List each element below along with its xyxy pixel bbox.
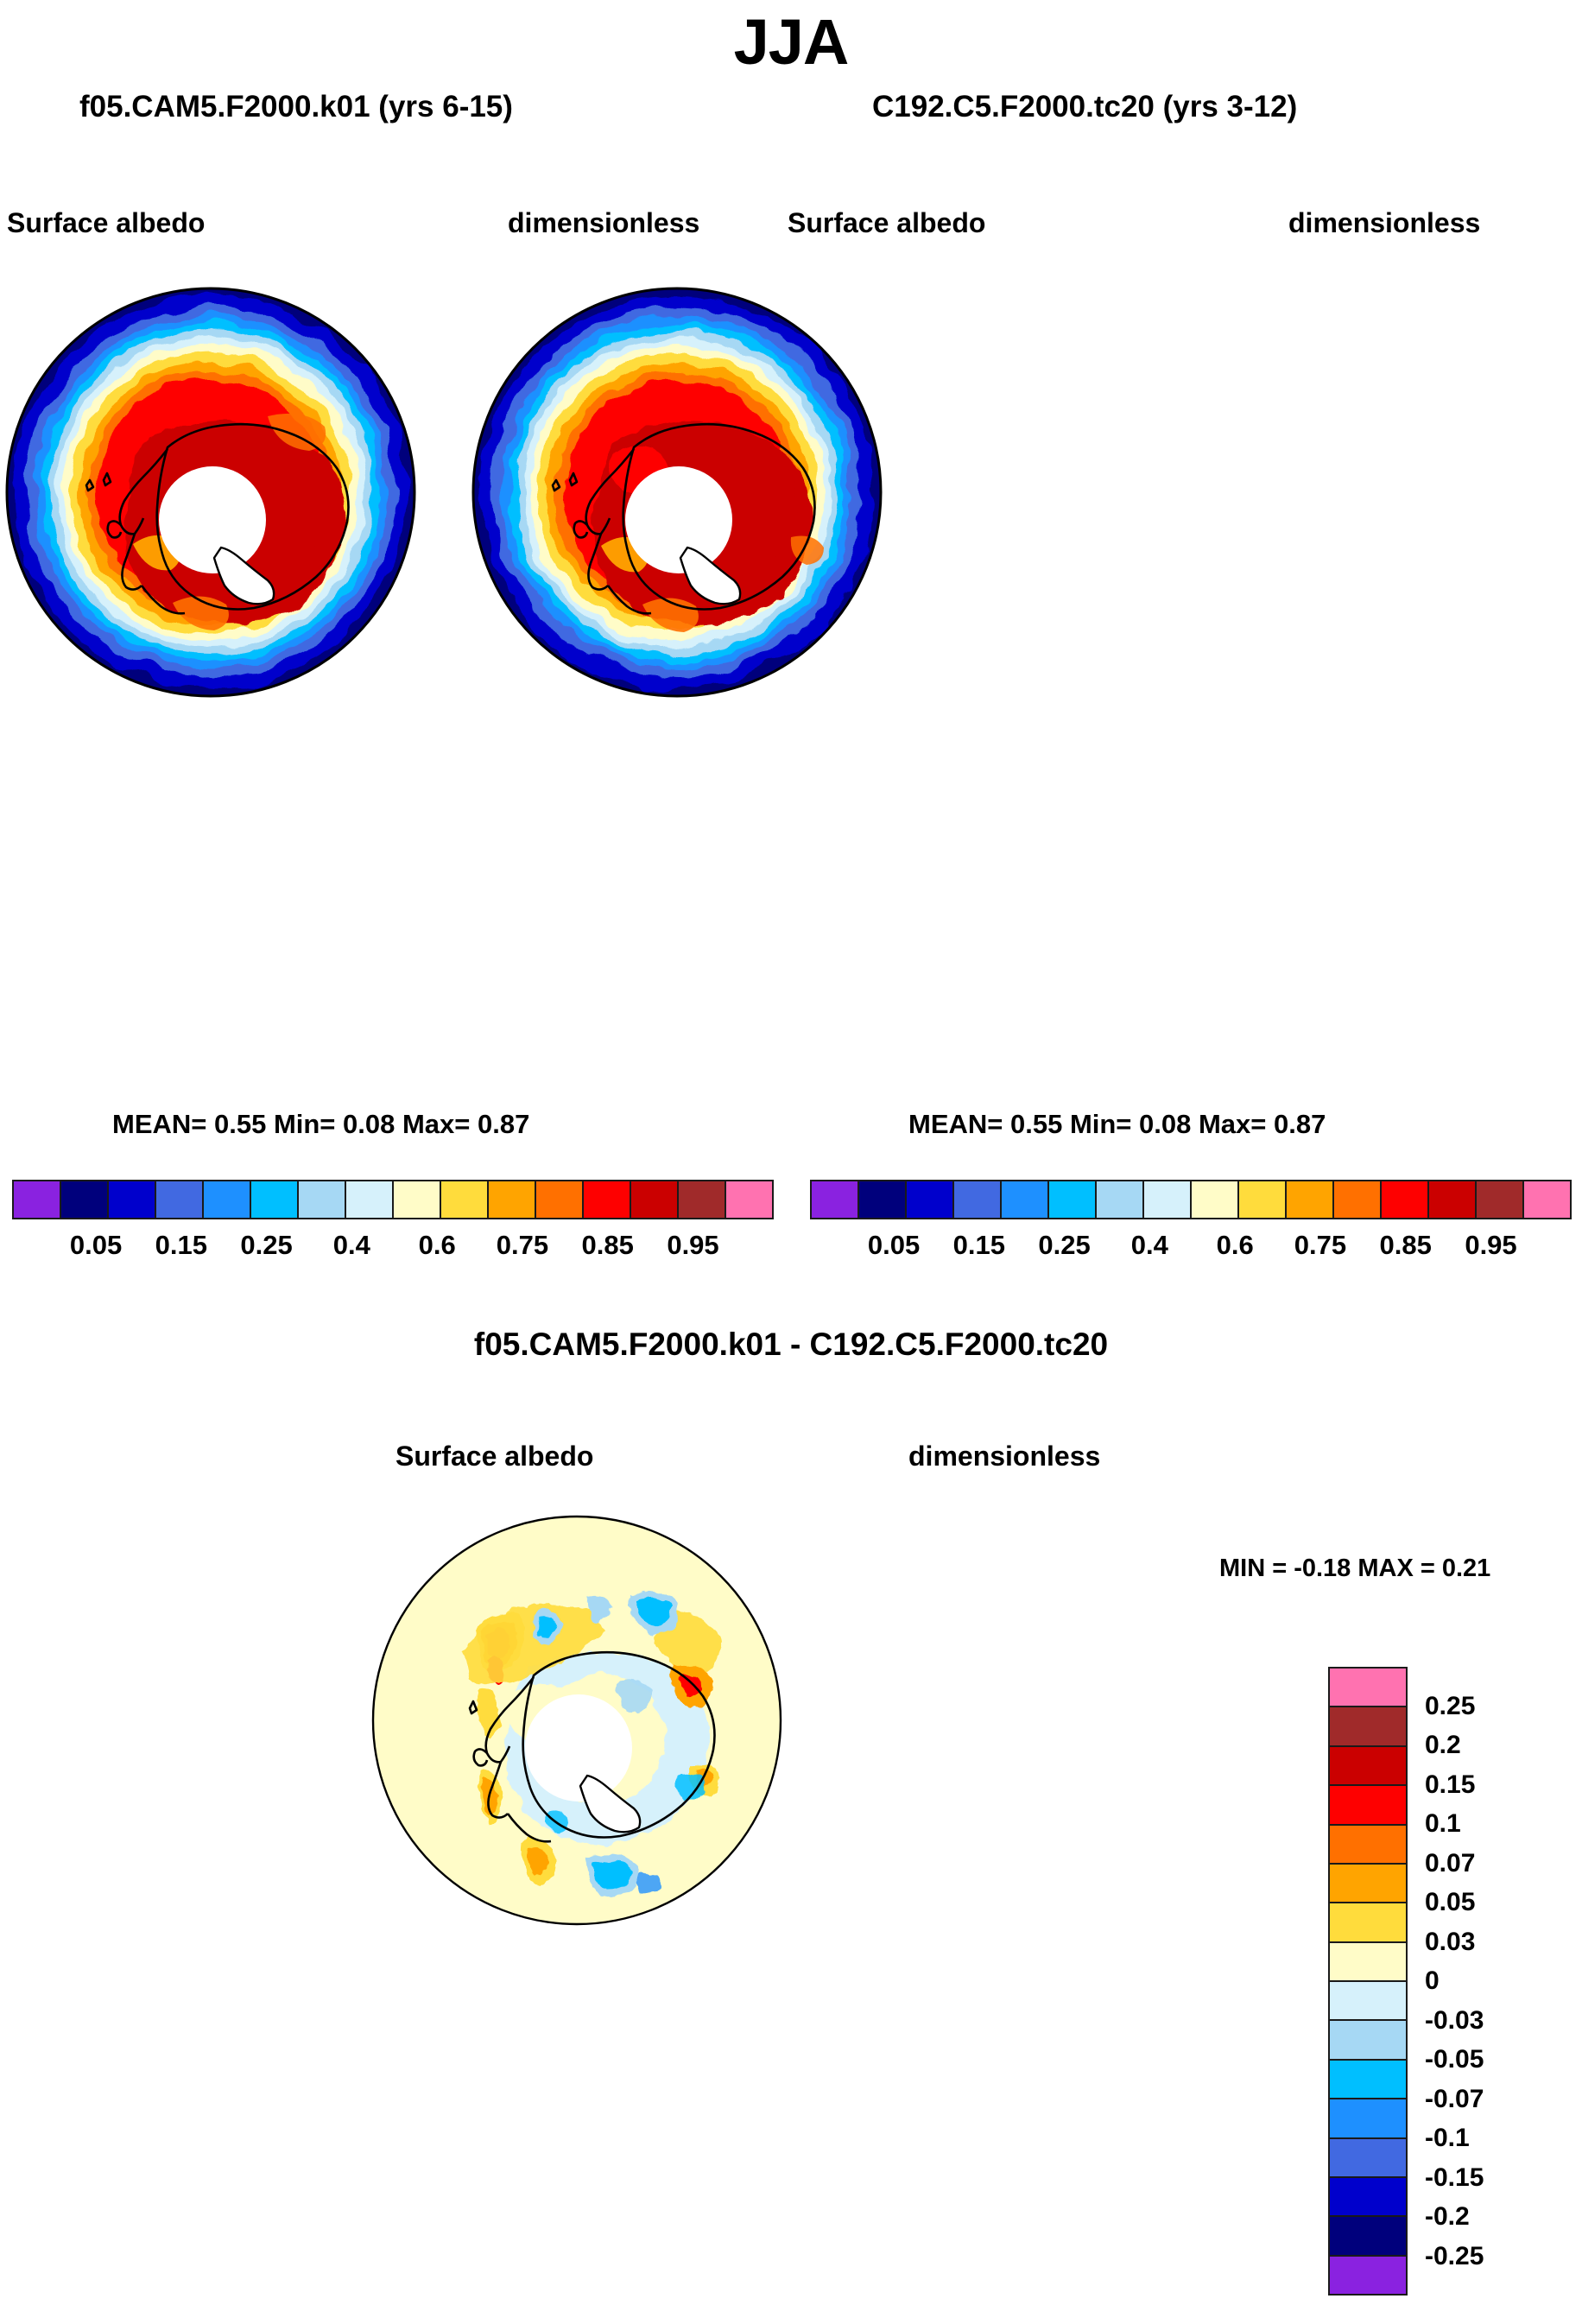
difference-title: f05.CAM5.F2000.k01 - C192.C5.F2000.tc20 [0, 1327, 1582, 1363]
difference-polar-map [370, 1513, 784, 1928]
left-colorbar-labels: 0.05 0.15 0.25 0.4 0.6 0.75 0.85 0.95 [12, 1230, 774, 1264]
cb-tick: 0.85 [582, 1230, 634, 1261]
right-polar-map [470, 285, 884, 700]
cbv-tick: -0.2 [1425, 2202, 1470, 2232]
cbv-tick: -0.05 [1425, 2045, 1484, 2074]
cb-tick: 0.15 [953, 1230, 1005, 1261]
cb-tick: 0.95 [667, 1230, 718, 1261]
left-units-label: dimensionless [508, 207, 699, 239]
cb-tick: 0.6 [1217, 1230, 1254, 1261]
season-title: JJA [0, 5, 1582, 79]
cb-tick: 0.75 [1294, 1230, 1346, 1261]
right-units-label: dimensionless [1288, 207, 1480, 239]
cbv-tick: 0.15 [1425, 1770, 1475, 1800]
cbv-tick: -0.03 [1425, 2006, 1484, 2036]
cbv-tick: 0.07 [1425, 1849, 1475, 1878]
right-stats: MEAN= 0.55 Min= 0.08 Max= 0.87 [908, 1109, 1326, 1140]
left-panel-title: f05.CAM5.F2000.k01 (yrs 6-15) [79, 90, 513, 124]
cbv-tick: -0.07 [1425, 2085, 1484, 2114]
cbv-tick: 0.25 [1425, 1692, 1475, 1721]
cb-tick: 0.05 [868, 1230, 920, 1261]
cbv-tick: 0.03 [1425, 1928, 1475, 1957]
cb-tick: 0.95 [1465, 1230, 1516, 1261]
left-variable-label: Surface albedo [7, 207, 205, 239]
cbv-tick: 0.2 [1425, 1731, 1461, 1760]
cbv-tick: 0 [1425, 1966, 1440, 1996]
left-colorbar [12, 1180, 774, 1219]
right-variable-label: Surface albedo [788, 207, 985, 239]
cb-tick: 0.75 [497, 1230, 548, 1261]
figure-canvas: JJA f05.CAM5.F2000.k01 (yrs 6-15) C192.C… [0, 0, 1582, 2324]
right-colorbar [810, 1180, 1572, 1219]
cbv-tick: 0.05 [1425, 1888, 1475, 1917]
cb-tick: 0.25 [1038, 1230, 1090, 1261]
cb-tick: 0.85 [1380, 1230, 1432, 1261]
difference-colorbar [1328, 1667, 1408, 2296]
difference-colorbar-labels: 0.25 0.2 0.15 0.1 0.07 0.05 0.03 0 -0.03… [1425, 1667, 1580, 2296]
left-polar-map [3, 285, 418, 700]
cb-tick: 0.15 [155, 1230, 207, 1261]
cb-tick: 0.6 [419, 1230, 456, 1261]
difference-minmax: MIN = -0.18 MAX = 0.21 [1219, 1555, 1490, 1583]
cbv-tick: -0.15 [1425, 2163, 1484, 2193]
cb-tick: 0.05 [70, 1230, 122, 1261]
difference-units-label: dimensionless [908, 1441, 1100, 1472]
cbv-tick: 0.1 [1425, 1809, 1461, 1839]
cbv-tick: -0.1 [1425, 2124, 1470, 2153]
left-stats: MEAN= 0.55 Min= 0.08 Max= 0.87 [112, 1109, 529, 1140]
right-colorbar-labels: 0.05 0.15 0.25 0.4 0.6 0.75 0.85 0.95 [810, 1230, 1572, 1264]
cb-tick: 0.25 [240, 1230, 292, 1261]
cbv-tick: -0.25 [1425, 2242, 1484, 2271]
cb-tick: 0.4 [333, 1230, 370, 1261]
right-panel-title: C192.C5.F2000.tc20 (yrs 3-12) [872, 90, 1297, 124]
cb-tick: 0.4 [1131, 1230, 1168, 1261]
difference-variable-label: Surface albedo [395, 1441, 593, 1472]
